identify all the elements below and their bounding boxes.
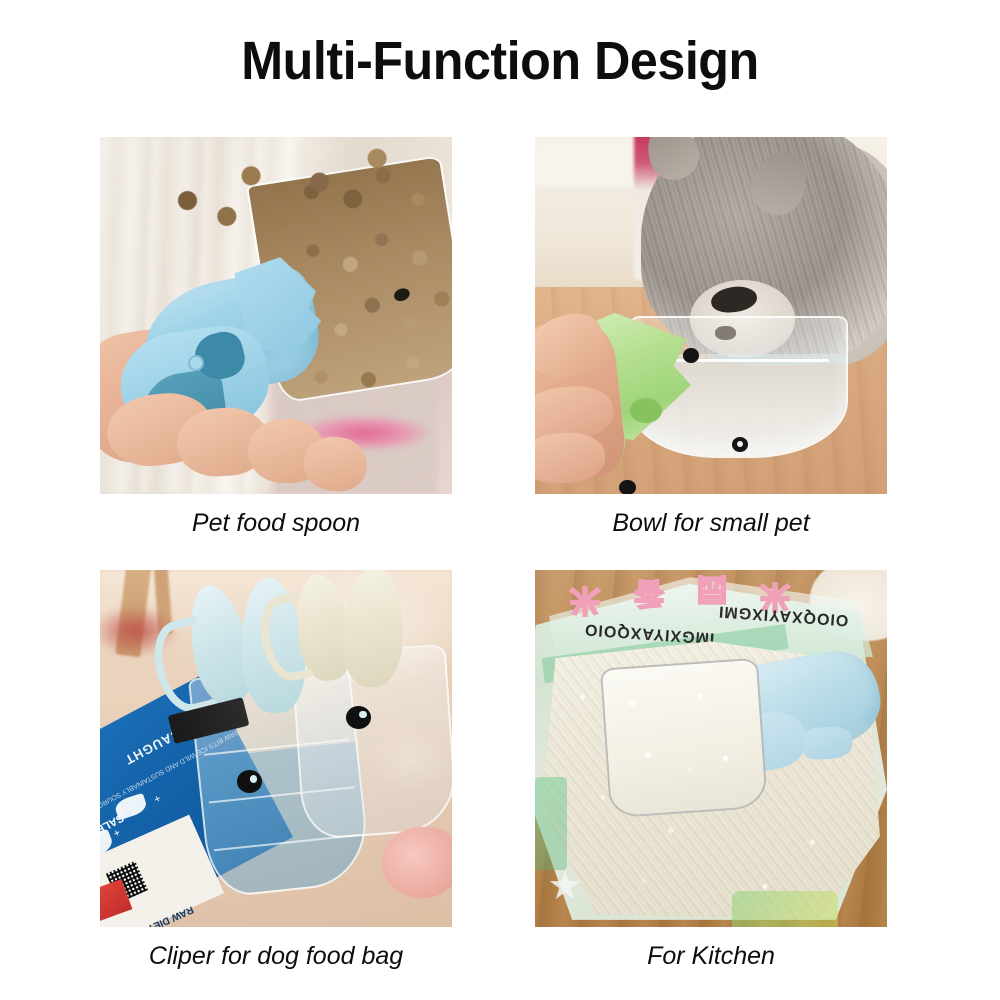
panel-cliper-for-dog-food-bag: WILD-CAUGHT RAW BITS ICE WILD AND SUSTAI… (100, 570, 452, 971)
clip-dot (346, 706, 371, 729)
green-clip-part (630, 398, 662, 423)
panel-pet-food-spoon: Pet food spoon (100, 137, 452, 538)
caption-pet-food-spoon: Pet food spoon (100, 508, 452, 538)
caption-cliper-for-dog-food-bag: Cliper for dog food bag (100, 941, 452, 971)
panel-grid: Pet food spoon (100, 137, 900, 937)
caption-bowl-for-small-pet: Bowl for small pet (535, 508, 887, 538)
wall-panel (535, 144, 634, 187)
clip-dot (619, 480, 635, 494)
bag-chinese-char: 米 (570, 581, 600, 625)
photo-pet-food-spoon (100, 137, 452, 494)
clear-scoop-cup (600, 657, 768, 818)
clip-pivot (188, 355, 204, 371)
product-infographic: Multi-Function Design (0, 0, 1000, 1000)
rice-in-scoop (602, 660, 766, 816)
panel-bowl-for-small-pet: Bowl for small pet (535, 137, 887, 538)
page-title: Multi-Function Design (35, 30, 965, 92)
photo-bowl-for-small-pet (535, 137, 887, 494)
panel-for-kitchen: 米 香 园 米 IMGXIYAXQOIO OIOQXAYIXGMI For Ki… (535, 570, 887, 971)
photo-for-kitchen: 米 香 园 米 IMGXIYAXQOIO OIOQXAYIXGMI (535, 570, 887, 927)
photo-cliper-for-dog-food-bag: WILD-CAUGHT RAW BITS ICE WILD AND SUSTAI… (100, 570, 452, 927)
plus-icon: + (151, 791, 162, 805)
bag-green-edge (535, 777, 567, 870)
caption-for-kitchen: For Kitchen (535, 941, 887, 971)
bag-chinese-char: 香 (634, 574, 664, 618)
clip-dot (732, 437, 748, 452)
clip-dot (683, 348, 699, 363)
clip-dot (237, 770, 262, 793)
bag-green-label (732, 891, 838, 927)
